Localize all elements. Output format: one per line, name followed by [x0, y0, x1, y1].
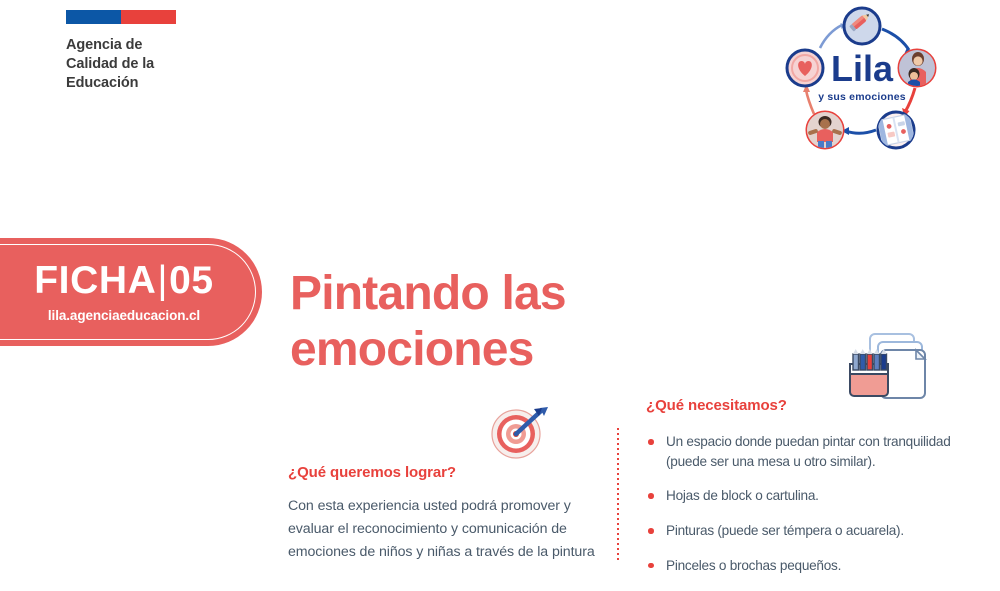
- paint-supplies-icon: [846, 330, 940, 400]
- agency-name-line-3: Educación: [66, 74, 266, 93]
- flag-red-half: [121, 10, 176, 24]
- target-dart-icon: [486, 404, 556, 460]
- ficha-url[interactable]: lila.agenciaeducacion.cl: [48, 308, 200, 323]
- materiales-section: ¿Qué necesitamos? Un espacio donde pueda…: [646, 330, 986, 591]
- lila-wordmark: Lila: [831, 48, 894, 89]
- ficha-separator: |: [156, 259, 169, 302]
- list-item: Pinceles o brochas pequeños.: [646, 556, 986, 576]
- chile-flag-bar-icon: [66, 10, 176, 24]
- objetivo-section: ¿Qué queremos lograr? Con esta experienc…: [288, 404, 600, 578]
- agency-name-line-1: Agencia de: [66, 36, 266, 55]
- ficha-number: 05: [169, 259, 214, 302]
- ficha-label: FICHA: [34, 259, 156, 302]
- materiales-list: Un espacio donde puedan pintar con tranq…: [646, 432, 986, 576]
- page-title: Pintando las emociones: [290, 266, 690, 378]
- lila-brand-logo: Lila y sus emociones: [762, 2, 962, 162]
- bullet-icon: [648, 493, 654, 499]
- ficha-badge-content: FICHA|05 lila.agenciaeducacion.cl: [0, 238, 262, 346]
- list-item-text: Hojas de block o cartulina.: [666, 488, 819, 503]
- ficha-title: FICHA|05: [34, 261, 213, 300]
- objetivo-body: Con esta experiencia usted podrá promove…: [288, 495, 600, 564]
- bullet-icon: [648, 563, 654, 569]
- agency-logo: Agencia de Calidad de la Educación: [66, 10, 266, 93]
- page-title-line-1: Pintando las: [290, 266, 690, 322]
- list-item: Hojas de block o cartulina.: [646, 486, 986, 506]
- column-divider: [617, 428, 619, 563]
- lila-tagline: y sus emociones: [818, 91, 906, 103]
- list-item-text: Pinturas (puede ser témpera o acuarela).: [666, 523, 904, 538]
- list-item-text: Un espacio donde puedan pintar con tranq…: [666, 434, 951, 469]
- list-item: Pinturas (puede ser témpera o acuarela).: [646, 521, 986, 541]
- agency-name: Agencia de Calidad de la Educación: [66, 36, 266, 93]
- ficha-badge[interactable]: FICHA|05 lila.agenciaeducacion.cl: [0, 238, 262, 346]
- page-title-line-2: emociones: [290, 322, 690, 378]
- agency-name-line-2: Calidad de la: [66, 55, 266, 74]
- flag-blue-half: [66, 10, 121, 24]
- bullet-icon: [648, 528, 654, 534]
- lila-logo-graphic: Lila y sus emociones: [762, 2, 962, 162]
- list-item: Un espacio donde puedan pintar con tranq…: [646, 432, 986, 471]
- bullet-icon: [648, 439, 654, 445]
- objetivo-heading: ¿Qué queremos lograr?: [288, 464, 600, 481]
- list-item-text: Pinceles o brochas pequeños.: [666, 558, 841, 573]
